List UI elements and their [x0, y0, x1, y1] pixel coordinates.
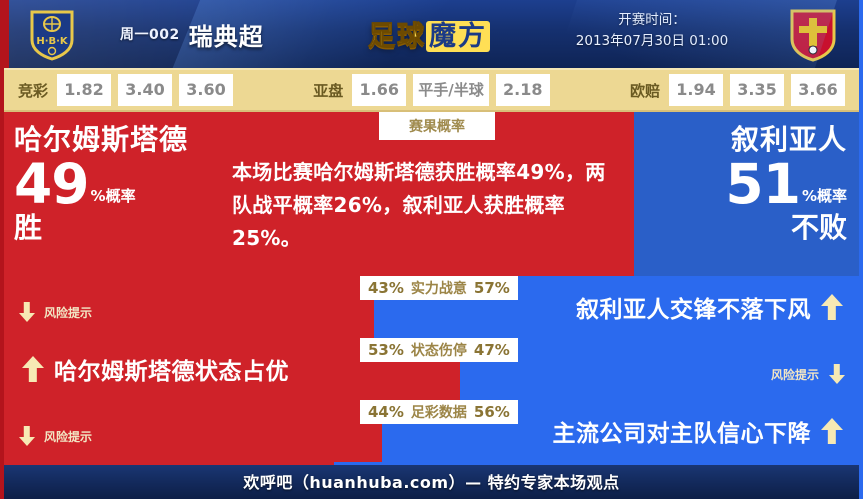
away-note-text: 风险提示 — [771, 366, 819, 383]
away-probability-panel: 叙利亚人 51 %概率 不败 — [634, 112, 859, 276]
footer-credit: 欢呼吧（huanhuba.com）— 特约专家本场观点 — [243, 469, 619, 493]
home-risk-note: 风险提示 — [18, 426, 92, 446]
footer: 欢呼吧（huanhuba.com）— 特约专家本场观点 — [4, 462, 859, 499]
comparison-badge: 44% 足彩数据 56% — [360, 400, 518, 424]
comparison-away-bar: 风险提示 — [460, 338, 859, 400]
odds-cell-jingcai-3[interactable]: 3.60 — [179, 74, 233, 106]
comparison-home-bar: 风险提示 — [4, 400, 382, 462]
arrow-up-icon — [821, 294, 843, 320]
odds-cell-yapan-2[interactable]: 2.18 — [496, 74, 550, 106]
kickoff-time: 开赛时间： 2013年07月30日 01:00 — [537, 10, 767, 52]
away-note: 主流公司对主队信心下降 — [553, 414, 844, 448]
comparison-home-percent: 53% — [368, 341, 404, 359]
away-note-text: 叙利亚人交锋不落下风 — [576, 290, 811, 324]
comparison-badge: 53% 状态伤停 47% — [360, 338, 518, 362]
odds-cell-oupei-3[interactable]: 3.66 — [791, 74, 845, 106]
match-summary-text: 本场比赛哈尔姆斯塔德获胜概率49%，两队战平概率26%，叙利亚人获胜概率25%。 — [232, 156, 624, 255]
odds-bar: 竞彩 1.82 3.40 3.60 亚盘 1.66 平手/半球 2.18 欧赔 … — [4, 68, 859, 112]
away-note: 叙利亚人交锋不落下风 — [576, 290, 843, 324]
odds-cell-oupei-1[interactable]: 1.94 — [669, 74, 723, 106]
odds-cell-jingcai-2[interactable]: 3.40 — [118, 74, 172, 106]
comparison-title: 状态伤停 — [411, 340, 467, 360]
home-team-crest-icon: H·B·K — [24, 6, 80, 62]
section-tab-result-probability: 赛果概率 — [379, 112, 495, 140]
comparison-row: 风险提示 叙利亚人交锋不落下风 43% 实力战意 57% — [4, 276, 859, 338]
comparison-away-percent: 47% — [474, 341, 510, 359]
league-info: 周一002 瑞典超 — [120, 0, 264, 68]
kickoff-label: 开赛时间： — [537, 10, 767, 31]
odds-group-oupei: 欧赔 1.94 3.35 3.66 — [630, 74, 845, 106]
arrow-down-icon — [18, 302, 35, 322]
outcome-probability-section: 哈尔姆斯塔德 49 %概率 胜 本场比赛哈尔姆斯塔德获胜概率49%，两队战平概率… — [4, 112, 859, 276]
logo-text-secondary: 魔方 — [426, 21, 490, 52]
odds-label-oupei: 欧赔 — [630, 80, 660, 101]
away-note-text: 主流公司对主队信心下降 — [553, 414, 812, 448]
away-risk-note: 风险提示 — [771, 364, 845, 384]
footer-accent-blue — [334, 462, 859, 465]
home-probability-panel: 哈尔姆斯塔德 49 %概率 胜 本场比赛哈尔姆斯塔德获胜概率49%，两队战平概率… — [4, 112, 634, 276]
header-left-accent — [4, 0, 9, 68]
arrow-up-icon — [821, 418, 843, 444]
header: H·B·K 周一002 瑞典超 足球魔方 开赛时间： 2013年07月30日 0… — [4, 0, 859, 68]
home-note: 哈尔姆斯塔德状态占优 — [22, 352, 289, 386]
home-note-text: 风险提示 — [44, 428, 92, 445]
league-name: 瑞典超 — [189, 17, 264, 52]
footer-accent-strip — [4, 462, 859, 465]
odds-label-jingcai: 竞彩 — [18, 80, 48, 101]
arrow-up-icon — [22, 356, 44, 382]
site-logo[interactable]: 足球魔方 — [359, 7, 499, 59]
away-outcome-label: 不败 — [725, 214, 847, 242]
arrow-down-icon — [18, 426, 35, 446]
comparison-away-percent: 56% — [474, 403, 510, 421]
comparison-home-percent: 43% — [368, 279, 404, 297]
away-team-crest-icon — [785, 6, 841, 62]
footer-accent-red — [4, 462, 334, 465]
away-team-name: 叙利亚人 — [725, 126, 847, 154]
arrow-down-icon — [828, 364, 845, 384]
comparison-away-percent: 57% — [474, 279, 510, 297]
odds-cell-jingcai-1[interactable]: 1.82 — [57, 74, 111, 106]
home-probability-value: 49 — [14, 158, 89, 210]
home-note-text: 风险提示 — [44, 304, 92, 321]
comparison-title: 实力战意 — [411, 278, 467, 298]
home-probability-unit: %概率 — [91, 189, 136, 210]
comparison-home-bar: 风险提示 — [4, 276, 374, 338]
odds-label-yapan: 亚盘 — [313, 80, 343, 101]
home-team-summary: 哈尔姆斯塔德 49 %概率 胜 — [14, 126, 188, 242]
comparison-home-percent: 44% — [368, 403, 404, 421]
comparison-row: 哈尔姆斯塔德状态占优 风险提示 53% 状态伤停 47% — [4, 338, 859, 400]
comparison-row: 风险提示 主流公司对主队信心下降 44% 足彩数据 56% — [4, 400, 859, 462]
home-team-name: 哈尔姆斯塔德 — [14, 126, 188, 154]
away-probability-unit: %概率 — [802, 189, 847, 210]
odds-cell-yapan-1[interactable]: 1.66 — [352, 74, 406, 106]
logo-text-primary: 足球 — [368, 21, 426, 52]
comparison-title: 足彩数据 — [411, 402, 467, 422]
odds-cell-oupei-2[interactable]: 3.35 — [730, 74, 784, 106]
svg-text:H·B·K: H·B·K — [36, 36, 69, 47]
home-risk-note: 风险提示 — [18, 302, 92, 322]
match-number: 周一002 — [120, 24, 180, 44]
odds-cell-yapan-handicap[interactable]: 平手/半球 — [413, 74, 488, 106]
away-probability-value: 51 — [725, 158, 800, 210]
home-outcome-label: 胜 — [14, 214, 188, 242]
home-note-text: 哈尔姆斯塔德状态占优 — [54, 352, 289, 386]
away-team-summary: 叙利亚人 51 %概率 不败 — [725, 126, 847, 242]
odds-group-yapan: 亚盘 1.66 平手/半球 2.18 — [313, 74, 550, 106]
kickoff-value: 2013年07月30日 01:00 — [537, 31, 767, 52]
match-analysis-graphic: H·B·K 周一002 瑞典超 足球魔方 开赛时间： 2013年07月30日 0… — [0, 0, 863, 499]
odds-group-jingcai: 竞彩 1.82 3.40 3.60 — [18, 74, 233, 106]
comparison-badge: 43% 实力战意 57% — [360, 276, 518, 300]
